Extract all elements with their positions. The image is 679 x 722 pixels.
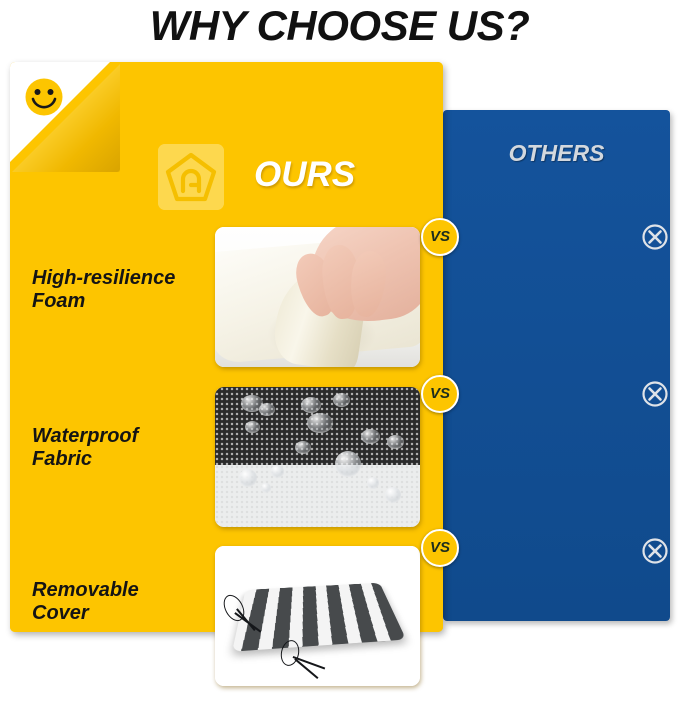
ours-panel: OURS High-resilience Foam Waterproof Fab… bbox=[10, 62, 443, 632]
feature-label-line-2: Fabric bbox=[32, 448, 212, 471]
page-title: WHY CHOOSE US? bbox=[0, 2, 679, 50]
feature-label-high-resilience-foam: High-resilience Foam bbox=[32, 267, 212, 313]
ours-photo-waterproof-fabric bbox=[215, 387, 420, 527]
vs-badge-row-2: VS bbox=[421, 375, 459, 413]
x-circle-icon bbox=[641, 380, 669, 408]
feature-label-removable-cover: Removable Cover bbox=[32, 579, 212, 625]
feature-label-line-1: High-resilience bbox=[32, 267, 212, 290]
vs-badge-row-1: VS bbox=[421, 218, 459, 256]
feature-label-line-1: Waterproof bbox=[32, 425, 212, 448]
feature-label-waterproof-fabric: Waterproof Fabric bbox=[32, 425, 212, 471]
vs-badge-row-3: VS bbox=[421, 529, 459, 567]
ours-photo-removable-cover bbox=[215, 546, 420, 686]
ours-heading: OURS bbox=[254, 155, 355, 195]
feature-label-line-2: Cover bbox=[32, 602, 212, 625]
ours-photo-resilient-foam bbox=[215, 227, 420, 367]
x-circle-icon bbox=[641, 537, 669, 565]
x-circle-icon bbox=[641, 223, 669, 251]
smiley-face-icon bbox=[24, 77, 64, 117]
house-pentagon-logo-icon bbox=[158, 144, 224, 210]
feature-label-line-1: Removable bbox=[32, 579, 212, 602]
others-panel: OTHERS bbox=[443, 110, 670, 621]
others-heading: OTHERS bbox=[443, 140, 670, 167]
feature-label-line-2: Foam bbox=[32, 290, 212, 313]
